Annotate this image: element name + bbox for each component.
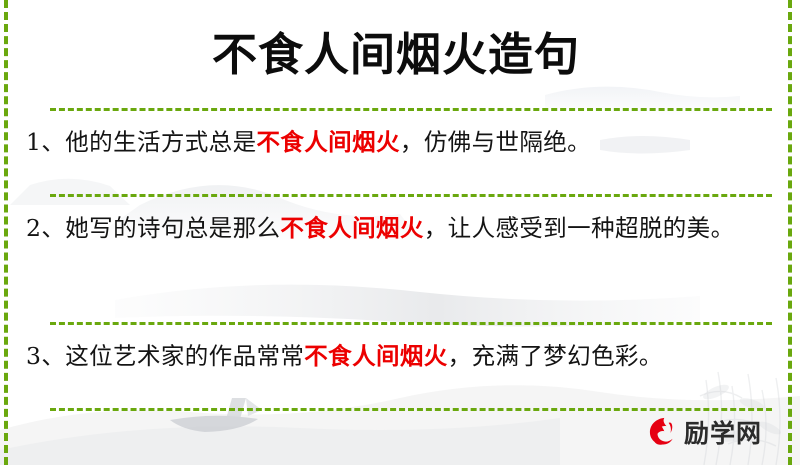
- red-swirl-flame-icon: [642, 415, 678, 451]
- footer-watermark-area: 励学网: [0, 387, 800, 465]
- page-title: 不食人间烟火造句: [212, 32, 580, 77]
- sentence-2-text-after: ，让人感受到一种超脱的美。: [424, 214, 735, 242]
- sentence-2-text-before: 她写的诗句总是那么: [65, 214, 280, 242]
- sentence-3-text-after: ，充满了梦幻色彩。: [448, 342, 663, 370]
- sentence-item-1: 1、他的生活方式总是不食人间烟火，仿佛与世隔绝。: [18, 111, 774, 194]
- sentence-1-number: 1、: [26, 128, 65, 156]
- sentence-2-number: 2、: [26, 214, 65, 242]
- title-container: 不食人间烟火造句: [18, 0, 774, 108]
- sentence-item-2: 2、她写的诗句总是那么不食人间烟火，让人感受到一种超脱的美。: [18, 197, 774, 322]
- poster-page: 不食人间烟火造句 1、他的生活方式总是不食人间烟火，仿佛与世隔绝。 2、她写的诗…: [0, 0, 800, 465]
- sentence-3-number: 3、: [26, 342, 65, 370]
- sentence-3-text-before: 这位艺术家的作品常常: [65, 342, 304, 370]
- brand-name: 励学网: [684, 421, 762, 446]
- sentence-3-keyword: 不食人间烟火: [304, 342, 447, 370]
- sentence-1-text-after: ，仿佛与世隔绝。: [400, 128, 591, 156]
- sentence-1-keyword: 不食人间烟火: [256, 128, 399, 156]
- brand-watermark: 励学网: [642, 415, 762, 451]
- sentence-1-text-before: 他的生活方式总是: [65, 128, 256, 156]
- sentence-2-keyword: 不食人间烟火: [280, 214, 423, 242]
